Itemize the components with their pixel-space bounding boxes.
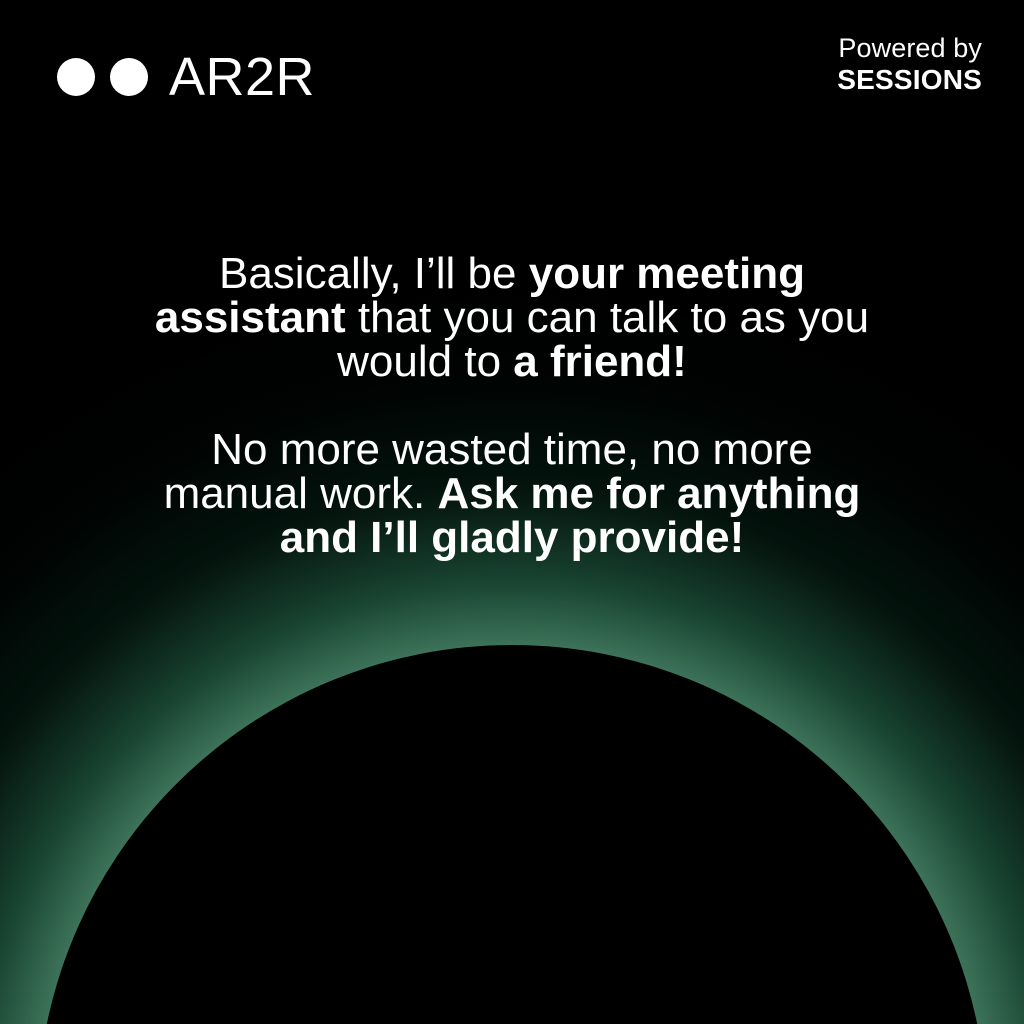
powered-by-prefix: Powered by xyxy=(837,33,982,64)
logo-dot-left-icon xyxy=(57,58,95,96)
powered-by-product: SESSIONS xyxy=(837,64,982,96)
message-block: Basically, I’ll be your meeting assistan… xyxy=(0,252,1024,560)
brand-logo: AR2R xyxy=(57,50,315,104)
logo-dot-right-icon xyxy=(110,58,148,96)
black-sphere-eclipse xyxy=(37,645,987,1024)
brand-name: AR2R xyxy=(169,50,315,104)
promo-card: AR2R Powered by SESSIONS Basically, I’ll… xyxy=(0,0,1024,1024)
message-paragraph-2: No more wasted time, no more manual work… xyxy=(150,428,874,560)
message-paragraph-1: Basically, I’ll be your meeting assistan… xyxy=(150,252,874,384)
powered-by-lockup: Powered by SESSIONS xyxy=(837,33,982,97)
